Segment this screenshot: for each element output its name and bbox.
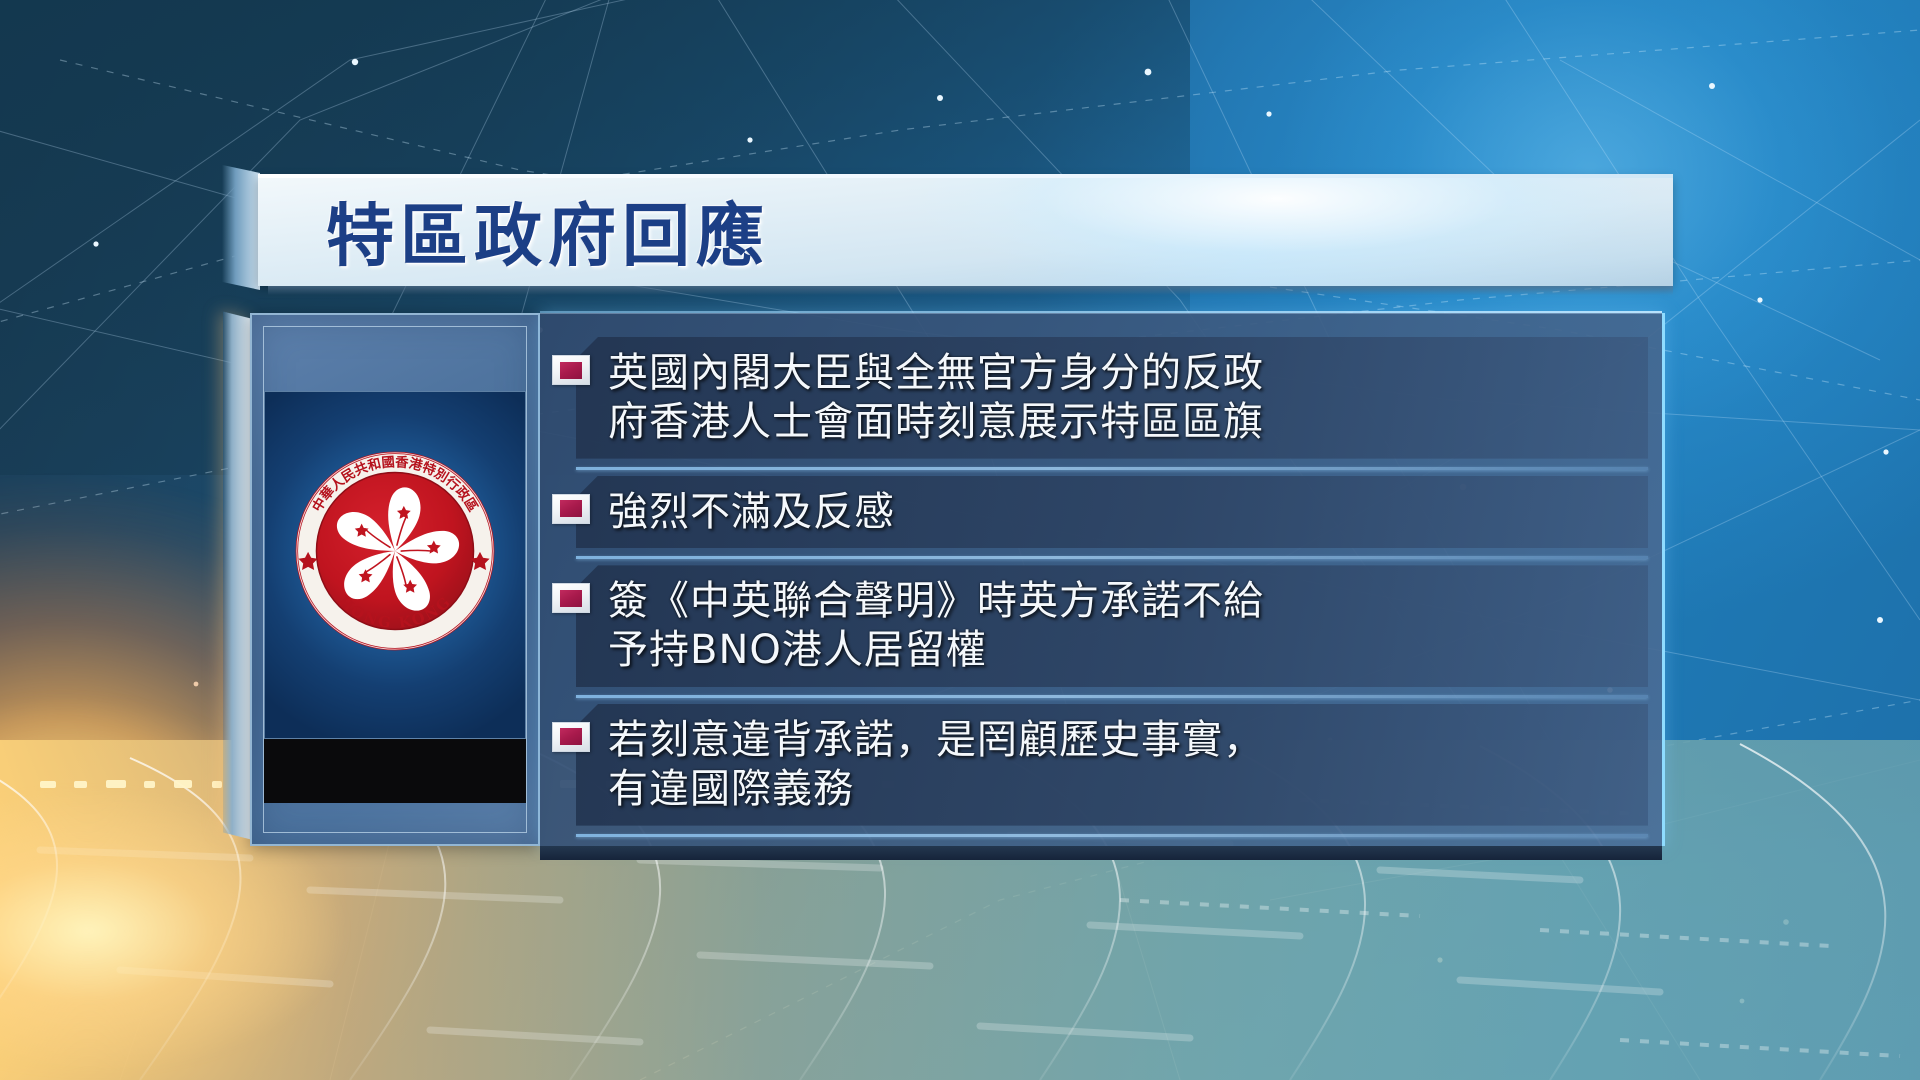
emblem-panel-left-bevel [223,312,253,840]
list-separator [576,556,1648,559]
list-item[interactable]: 若刻意違背承諾，是罔顧歷史事實， 有違國際義務 [540,710,1662,822]
title-bar-highlight [258,174,1673,178]
list-separator [576,695,1648,698]
emblem-panel-body: 中華人民共和國香港特別行政區 HONG KONG [250,313,540,846]
emblem-panel-black-strip [264,739,526,803]
title-bar-left-bevel [222,165,260,290]
square-bullet-icon [552,355,590,385]
square-bullet-icon [552,494,590,524]
list-item[interactable]: 強烈不滿及反感 [540,482,1662,545]
list-item[interactable]: 英國內閣大臣與全無官方身分的反政 府香港人士會面時刻意展示特區區旗 [540,343,1662,455]
content-panel-top-highlight [540,311,1662,313]
list-separator [576,834,1648,837]
emblem-screen: 中華人民共和國香港特別行政區 HONG KONG [264,391,526,739]
list-item-text: 簽《中英聯合聲明》時英方承諾不給 予持BNO港人居留權 [604,571,1662,683]
emblem-panel: 中華人民共和國香港特別行政區 HONG KONG [250,313,540,846]
page-title: 特區政府回應 [326,180,770,279]
content-panel: 英國內閣大臣與全無官方身分的反政 府香港人士會面時刻意展示特區區旗 強烈不滿及反… [540,313,1665,846]
list-item[interactable]: 簽《中英聯合聲明》時英方承諾不給 予持BNO港人居留權 [540,571,1662,683]
list-item-text: 若刻意違背承諾，是罔顧歷史事實， 有違國際義務 [604,710,1662,822]
bullet-list: 英國內閣大臣與全無官方身分的反政 府香港人士會面時刻意展示特區區旗 強烈不滿及反… [540,343,1662,849]
square-bullet-icon [552,583,590,613]
list-item-text: 英國內閣大臣與全無官方身分的反政 府香港人士會面時刻意展示特區區旗 [604,343,1662,455]
list-item-text: 強烈不滿及反感 [604,482,1662,545]
list-separator [576,467,1648,470]
hong-kong-sar-emblem-icon: 中華人民共和國香港特別行政區 HONG KONG [287,443,503,659]
title-bar: 特區政府回應 [258,177,1673,286]
square-bullet-icon [552,722,590,752]
title-bar-shadow [268,286,1673,295]
